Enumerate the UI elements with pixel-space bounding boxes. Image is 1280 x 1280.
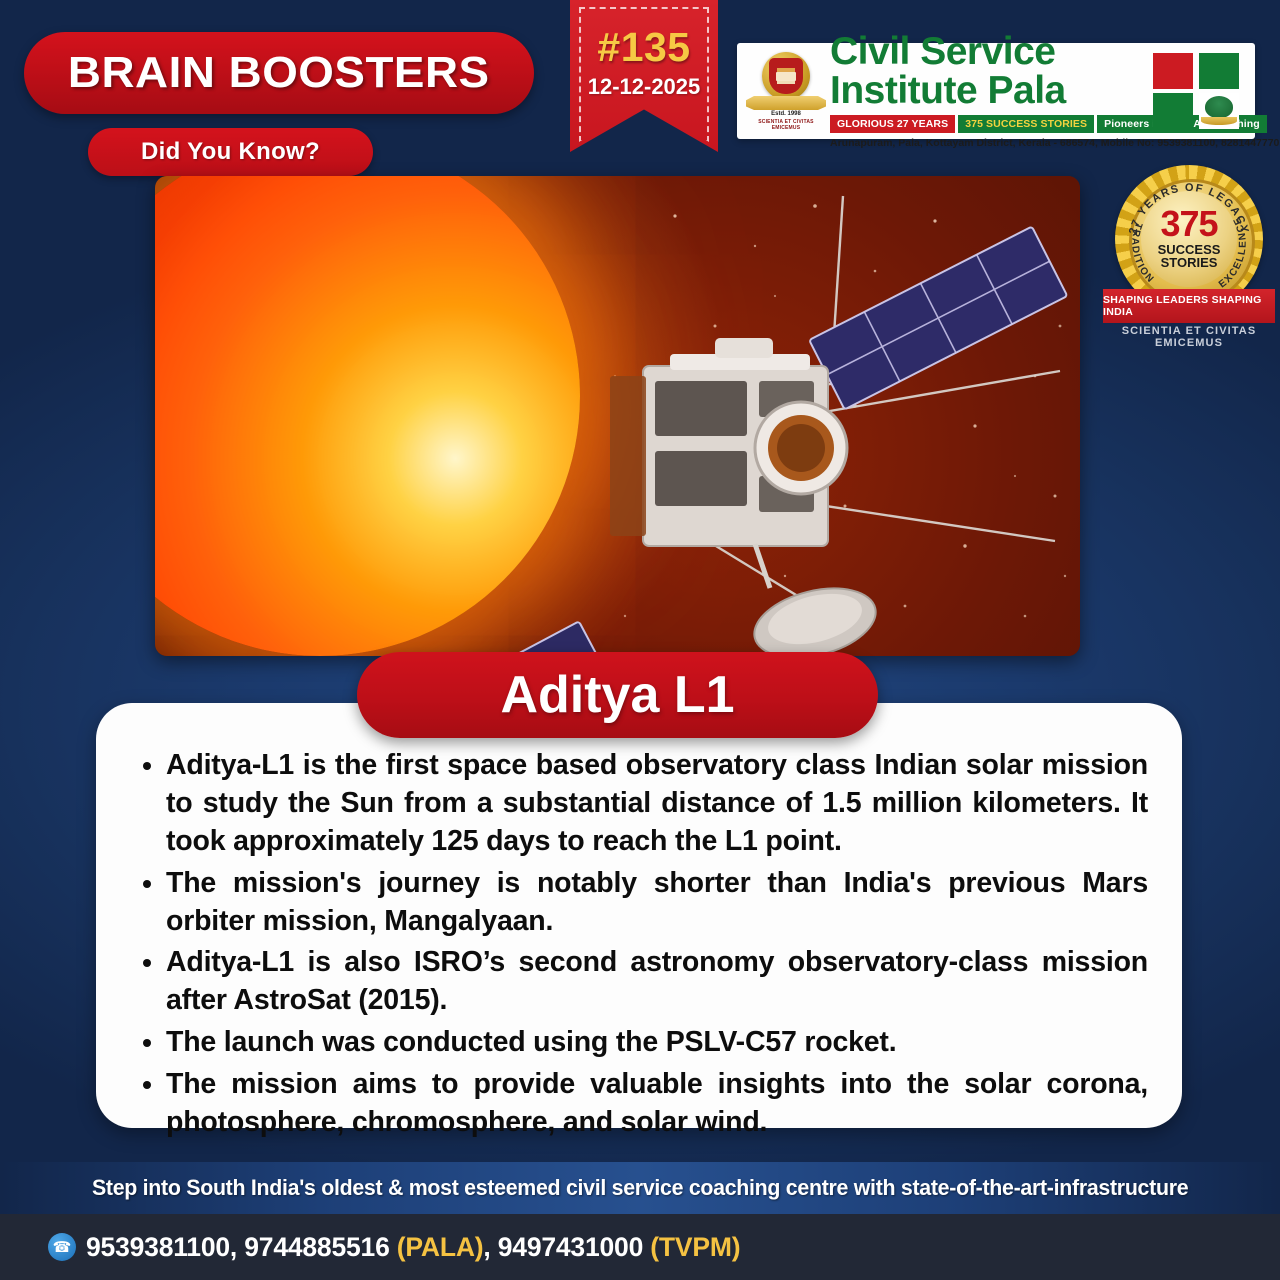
- issue-date: 12-12-2025: [570, 74, 718, 100]
- did-you-know-badge: Did You Know?: [88, 128, 373, 176]
- list-item: The launch was conducted using the PSLV-…: [166, 1024, 1148, 1062]
- success-stories-seal: 375 SUCCESS STORIES 27 YEARS OF LEGACY T…: [1103, 163, 1275, 348]
- logo-square-green-top: [1199, 53, 1239, 89]
- footer-contact-band: ☎ 9539381100, 9744885516 (PALA), 9497431…: [0, 1214, 1280, 1280]
- list-item: Aditya-L1 is also ISRO’s second astronom…: [166, 944, 1148, 1020]
- crest-estd-label: Estd. 1998: [744, 111, 828, 117]
- list-item: The mission aims to provide valuable ins…: [166, 1066, 1148, 1142]
- list-item: The mission's journey is notably shorter…: [166, 865, 1148, 941]
- logo-square-red: [1153, 53, 1193, 89]
- svg-text:EXCELLENCE: EXCELLENCE: [1217, 214, 1249, 290]
- institute-crest-icon: Estd. 1998 SCIENTIA ET CIVITAS EMICEMUS: [744, 48, 828, 134]
- poster-root: BRAIN BOOSTERS Did You Know? #135 12-12-…: [0, 0, 1280, 1280]
- brain-boosters-badge: BRAIN BOOSTERS: [24, 32, 534, 114]
- leaf-base-icon: [1201, 117, 1237, 125]
- chip-glorious-years: GLORIOUS 27 YEARS: [830, 115, 955, 133]
- footer-tagline: Step into South India's oldest & most es…: [92, 1175, 1188, 1201]
- brain-boosters-label: BRAIN BOOSTERS: [68, 48, 490, 98]
- footer-phone-numbers: 9539381100, 9744885516 (PALA), 949743100…: [86, 1232, 740, 1263]
- institute-address: Arunapuram, Pala, Kottayam District, Ker…: [830, 137, 1153, 149]
- institute-name: Civil Service Institute Pala: [830, 32, 1153, 110]
- institute-logo-bar: Estd. 1998 SCIENTIA ET CIVITAS EMICEMUS …: [737, 43, 1255, 139]
- leaf-icon: [1205, 96, 1233, 118]
- did-you-know-label: Did You Know?: [141, 138, 320, 166]
- chip-success-stories: 375 SUCCESS STORIES: [958, 115, 1094, 133]
- hero-image: [155, 176, 1080, 656]
- logo-square-green-bottom: [1153, 93, 1193, 129]
- issue-number: #135: [570, 24, 718, 71]
- seal-caption: SCIENTIA ET CIVITAS EMICEMUS: [1103, 325, 1275, 349]
- svg-text:TRADITION: TRADITION: [1129, 221, 1156, 286]
- book-icon: [776, 72, 796, 81]
- crest-banner: [746, 96, 826, 110]
- facts-list: Aditya-L1 is the first space based obser…: [122, 747, 1156, 1142]
- crest-motto-label: SCIENTIA ET CIVITAS EMICEMUS: [744, 119, 828, 131]
- topic-title-badge: Aditya L1: [357, 652, 878, 738]
- crest-shield: [769, 58, 803, 94]
- logo-chip-row: GLORIOUS 27 YEARS 375 SUCCESS STORIES Pi…: [830, 115, 1153, 133]
- issue-ribbon: #135 12-12-2025: [570, 0, 718, 152]
- seal-ribbon-label: SHAPING LEADERS SHAPING INDIA: [1103, 294, 1275, 318]
- topic-title: Aditya L1: [500, 665, 734, 725]
- phone-icon: ☎: [48, 1233, 76, 1261]
- svg-text:27 YEARS OF LEGACY: 27 YEARS OF LEGACY: [1127, 182, 1251, 236]
- footer-tagline-band: Step into South India's oldest & most es…: [0, 1162, 1280, 1214]
- logo-text-block: Civil Service Institute Pala GLORIOUS 27…: [828, 34, 1153, 149]
- footer-phones: ☎ 9539381100, 9744885516 (PALA), 9497431…: [48, 1232, 740, 1263]
- facts-card: Aditya-L1 is the first space based obser…: [96, 703, 1182, 1128]
- list-item: Aditya-L1 is the first space based obser…: [166, 747, 1148, 861]
- satellite-illustration: [155, 176, 1080, 656]
- logo-square-marks: [1153, 49, 1249, 133]
- seal-ribbon-band: SHAPING LEADERS SHAPING INDIA: [1103, 289, 1275, 323]
